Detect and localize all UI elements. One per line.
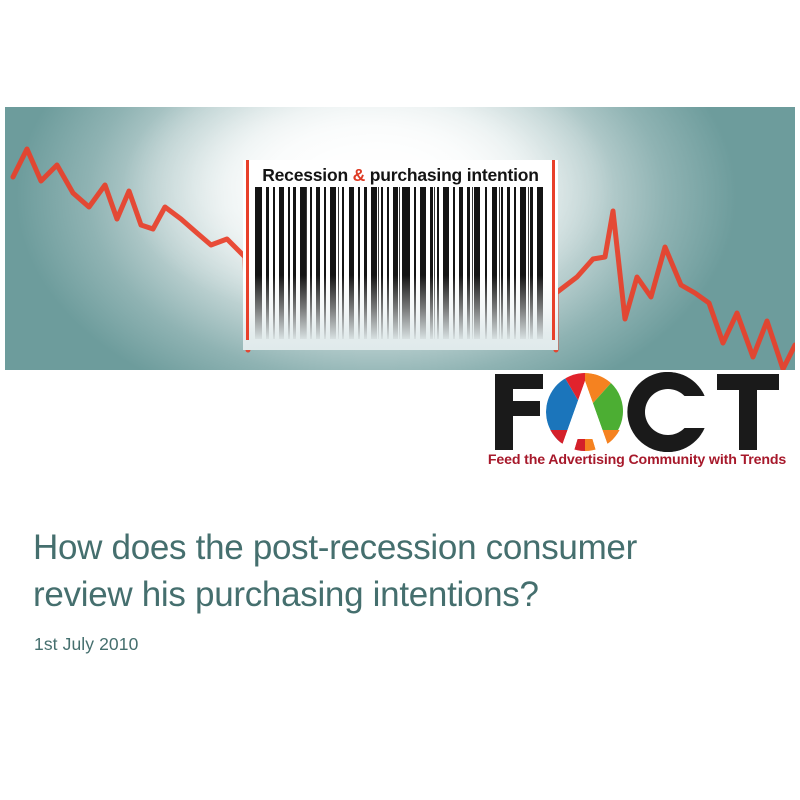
trend-line-right	[556, 211, 795, 369]
barcode-title: Recession & purchasing intention	[243, 165, 558, 186]
fact-wordmark	[487, 368, 787, 453]
hero-banner: Recession & purchasing intention	[5, 107, 795, 370]
barcode-title-ampersand: &	[353, 165, 365, 185]
barcode-title-before: Recession	[262, 165, 352, 185]
page-title: How does the post-recession consumer rev…	[33, 525, 753, 618]
barcode-title-after: purchasing intention	[365, 165, 539, 185]
fact-logo: Feed the Advertising Community with Tren…	[487, 368, 787, 478]
fact-letter-c	[627, 372, 728, 452]
fact-letter-a-pie	[546, 373, 625, 453]
title-slide: Recession & purchasing intention	[0, 0, 800, 800]
fact-letter-f	[495, 374, 543, 450]
trend-line-left	[13, 149, 248, 350]
barcode-graphic: Recession & purchasing intention	[243, 160, 558, 350]
slide-date: 1st July 2010	[34, 634, 753, 655]
title-block: How does the post-recession consumer rev…	[33, 525, 753, 655]
fact-tagline: Feed the Advertising Community with Tren…	[487, 452, 787, 468]
barcode-bars	[243, 187, 558, 350]
